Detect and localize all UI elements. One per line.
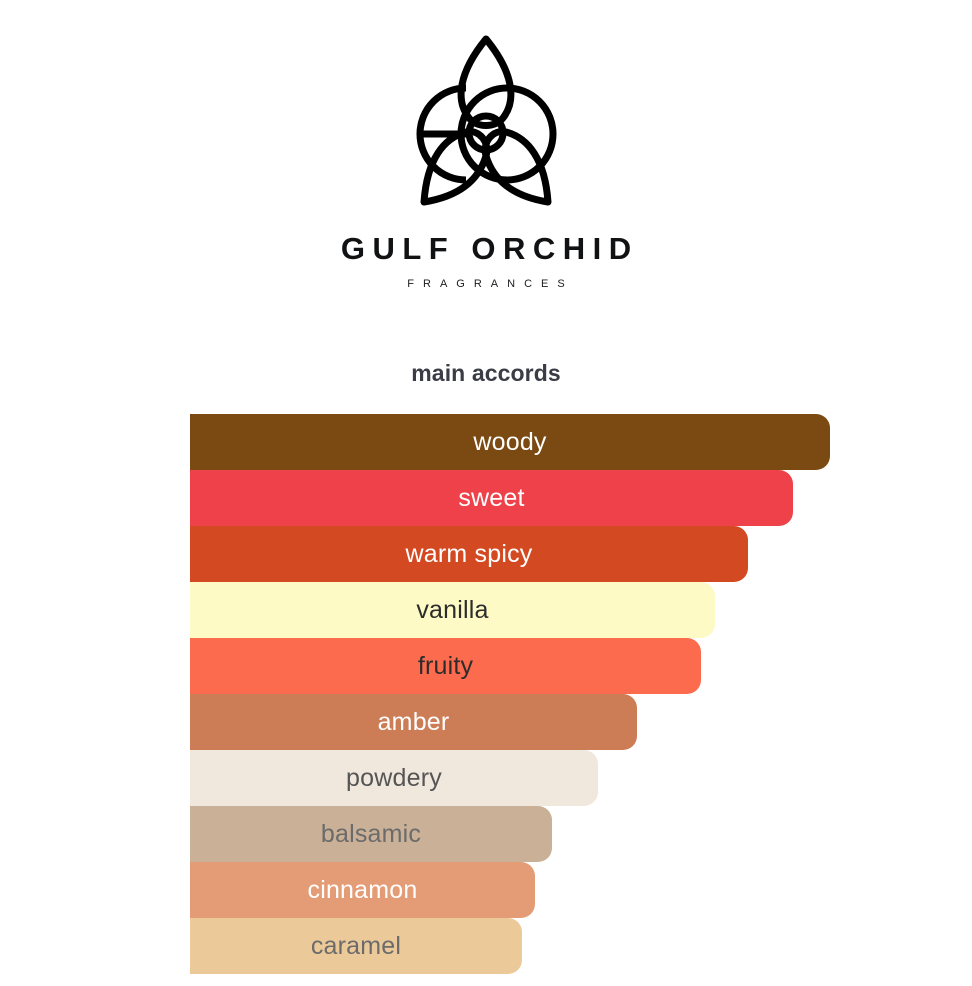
brand-header: GULF ORCHID FRAGRANCES: [0, 0, 972, 290]
main-accords-section: main accords woodysweetwarm spicyvanilla…: [0, 362, 972, 974]
accord-bar[interactable]: warm spicy: [190, 526, 748, 582]
accord-bar[interactable]: vanilla: [190, 582, 715, 638]
accord-bar[interactable]: cinnamon: [190, 862, 535, 918]
main-accords-title: main accords: [0, 362, 972, 385]
accord-label: sweet: [458, 486, 524, 511]
accord-label: powdery: [346, 766, 442, 791]
accord-bar[interactable]: powdery: [190, 750, 598, 806]
accord-label: woody: [473, 430, 546, 455]
orchid-flower-logo-icon: [391, 26, 581, 216]
accord-label: caramel: [311, 934, 401, 959]
accord-label: cinnamon: [308, 878, 418, 903]
accord-label: amber: [378, 710, 450, 735]
accord-label: vanilla: [416, 598, 488, 623]
accord-bar[interactable]: fruity: [190, 638, 701, 694]
accord-bar[interactable]: amber: [190, 694, 637, 750]
accord-bar[interactable]: woody: [190, 414, 830, 470]
accord-bar[interactable]: sweet: [190, 470, 793, 526]
accord-label: fruity: [418, 654, 473, 679]
accord-bar-chart: woodysweetwarm spicyvanillafruityamberpo…: [0, 414, 972, 974]
brand-tagline: FRAGRANCES: [398, 279, 573, 290]
accord-label: warm spicy: [405, 542, 532, 567]
brand-name: GULF ORCHID: [333, 233, 638, 264]
accord-bar[interactable]: balsamic: [190, 806, 552, 862]
accord-label: balsamic: [321, 822, 421, 847]
accord-bar[interactable]: caramel: [190, 918, 522, 974]
